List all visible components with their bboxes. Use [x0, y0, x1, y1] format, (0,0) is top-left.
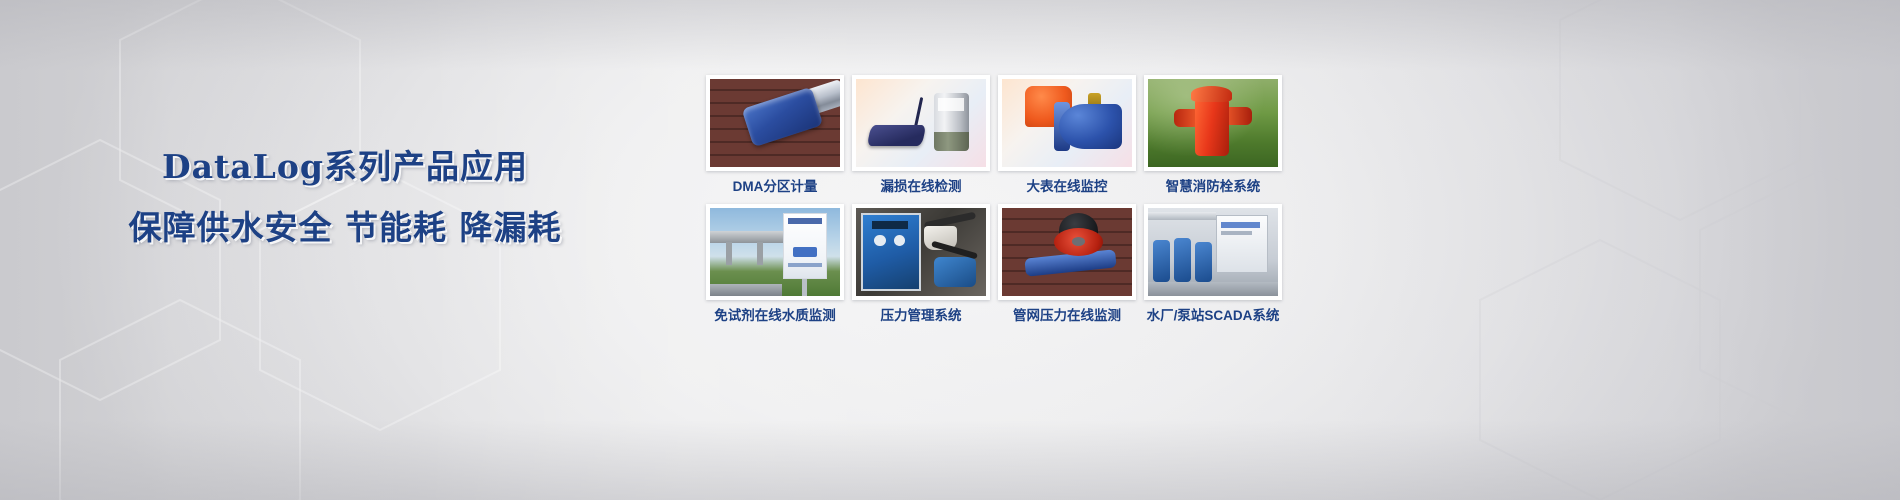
- product-label-dma-metering: DMA分区计量: [733, 179, 818, 195]
- product-thumbnail-large-meter-monitoring[interactable]: [998, 75, 1136, 171]
- product-label-pressure-management: 压力管理系统: [881, 308, 962, 324]
- product-thumbnail-leak-detection[interactable]: [852, 75, 990, 171]
- product-card-network-pressure-monitoring[interactable]: 管网压力在线监测: [998, 204, 1136, 324]
- product-card-leak-detection[interactable]: 漏损在线检测: [852, 75, 990, 195]
- product-label-network-pressure-monitoring: 管网压力在线监测: [1013, 308, 1121, 324]
- product-thumbnail-pressure-management[interactable]: [852, 204, 990, 300]
- product-card-scada-system[interactable]: 水厂/泵站SCADA系统: [1144, 204, 1282, 324]
- headline-block: DataLog系列产品应用 保障供水安全 节能耗 降漏耗: [0, 150, 690, 244]
- product-thumbnail-smart-hydrant[interactable]: [1144, 75, 1282, 171]
- product-card-pressure-management[interactable]: 压力管理系统: [852, 204, 990, 324]
- product-thumbnail-scada-system[interactable]: [1144, 204, 1282, 300]
- product-card-reagent-free-water-quality[interactable]: 免试剂在线水质监测: [706, 204, 844, 324]
- product-application-banner: DataLog系列产品应用 保障供水安全 节能耗 降漏耗 DMA分区计量: [0, 0, 1900, 500]
- product-thumbnail-reagent-free-water-quality[interactable]: [706, 204, 844, 300]
- product-grid: DMA分区计量 漏损在线检测: [706, 75, 1286, 324]
- product-thumbnail-network-pressure-monitoring[interactable]: [998, 204, 1136, 300]
- product-card-large-meter-monitoring[interactable]: 大表在线监控: [998, 75, 1136, 195]
- product-label-leak-detection: 漏损在线检测: [881, 179, 962, 195]
- headline-primary: DataLog系列产品应用: [0, 150, 690, 183]
- product-card-smart-hydrant[interactable]: 智慧消防栓系统: [1144, 75, 1282, 195]
- product-label-smart-hydrant: 智慧消防栓系统: [1166, 179, 1261, 195]
- product-card-dma-metering[interactable]: DMA分区计量: [706, 75, 844, 195]
- product-label-scada-system: 水厂/泵站SCADA系统: [1147, 308, 1280, 324]
- product-label-reagent-free-water-quality: 免试剂在线水质监测: [714, 308, 836, 324]
- product-thumbnail-dma-metering[interactable]: [706, 75, 844, 171]
- headline-secondary: 保障供水安全 节能耗 降漏耗: [0, 211, 690, 244]
- product-label-large-meter-monitoring: 大表在线监控: [1027, 179, 1108, 195]
